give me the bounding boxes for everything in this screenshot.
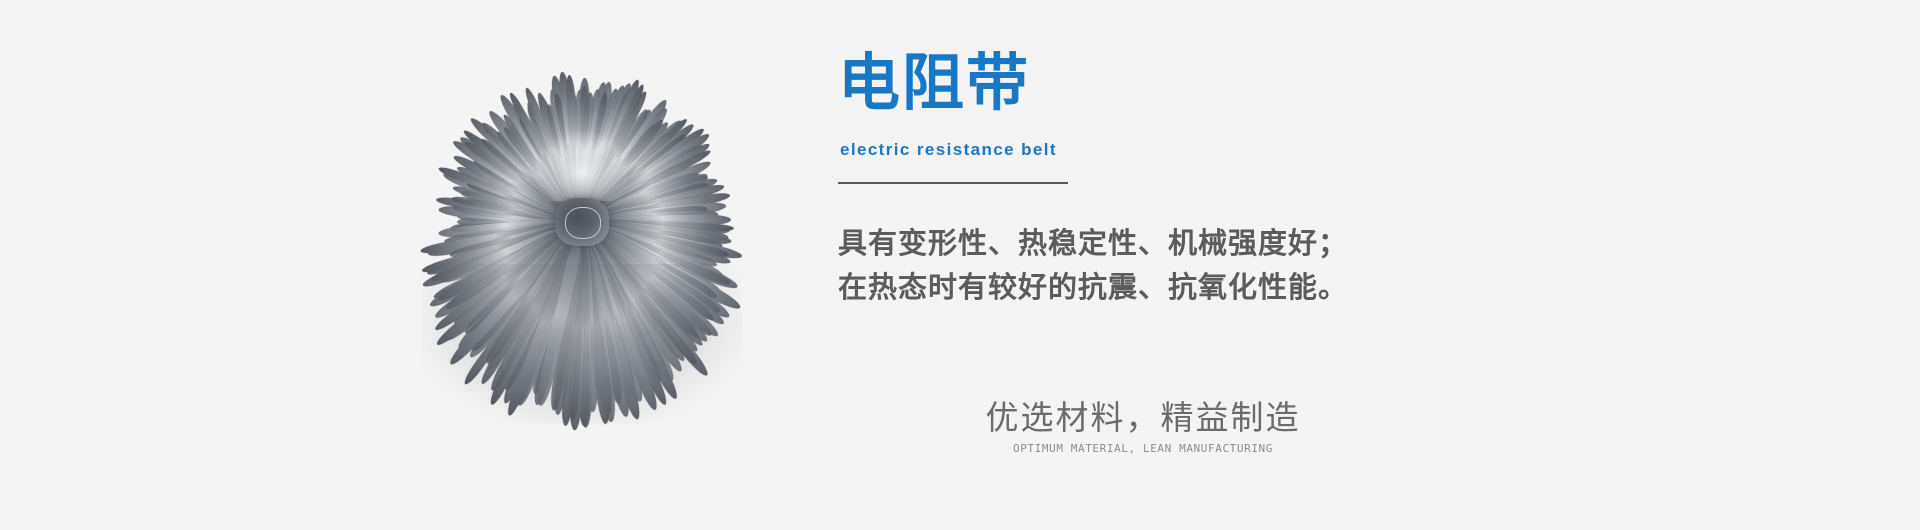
description-block: 具有变形性、热稳定性、机械强度好； 在热态时有较好的抗震、抗氧化性能。 <box>838 222 1348 310</box>
description-line-1: 具有变形性、热稳定性、机械强度好； <box>838 222 1348 266</box>
product-image <box>372 82 792 432</box>
resistance-belt-bundle-photo <box>372 82 792 432</box>
divider <box>838 182 1068 184</box>
description-line-2: 在热态时有较好的抗震、抗氧化性能。 <box>838 266 1348 310</box>
page-title: 电阻带 <box>838 52 1030 115</box>
tagline-block: 优选材料，精益制造 OPTIMUM MATERIAL, LEAN MANUFAC… <box>948 398 1338 456</box>
product-banner: 电阻带 electric resistance belt 具有变形性、热稳定性、… <box>0 0 1920 530</box>
copy-column: 电阻带 electric resistance belt 具有变形性、热稳定性、… <box>838 0 1738 530</box>
bundle-hub <box>555 198 609 246</box>
tagline-en: OPTIMUM MATERIAL, LEAN MANUFACTURING <box>948 442 1338 456</box>
tagline-cn: 优选材料，精益制造 <box>948 398 1338 438</box>
page-subtitle: electric resistance belt <box>840 140 1057 160</box>
